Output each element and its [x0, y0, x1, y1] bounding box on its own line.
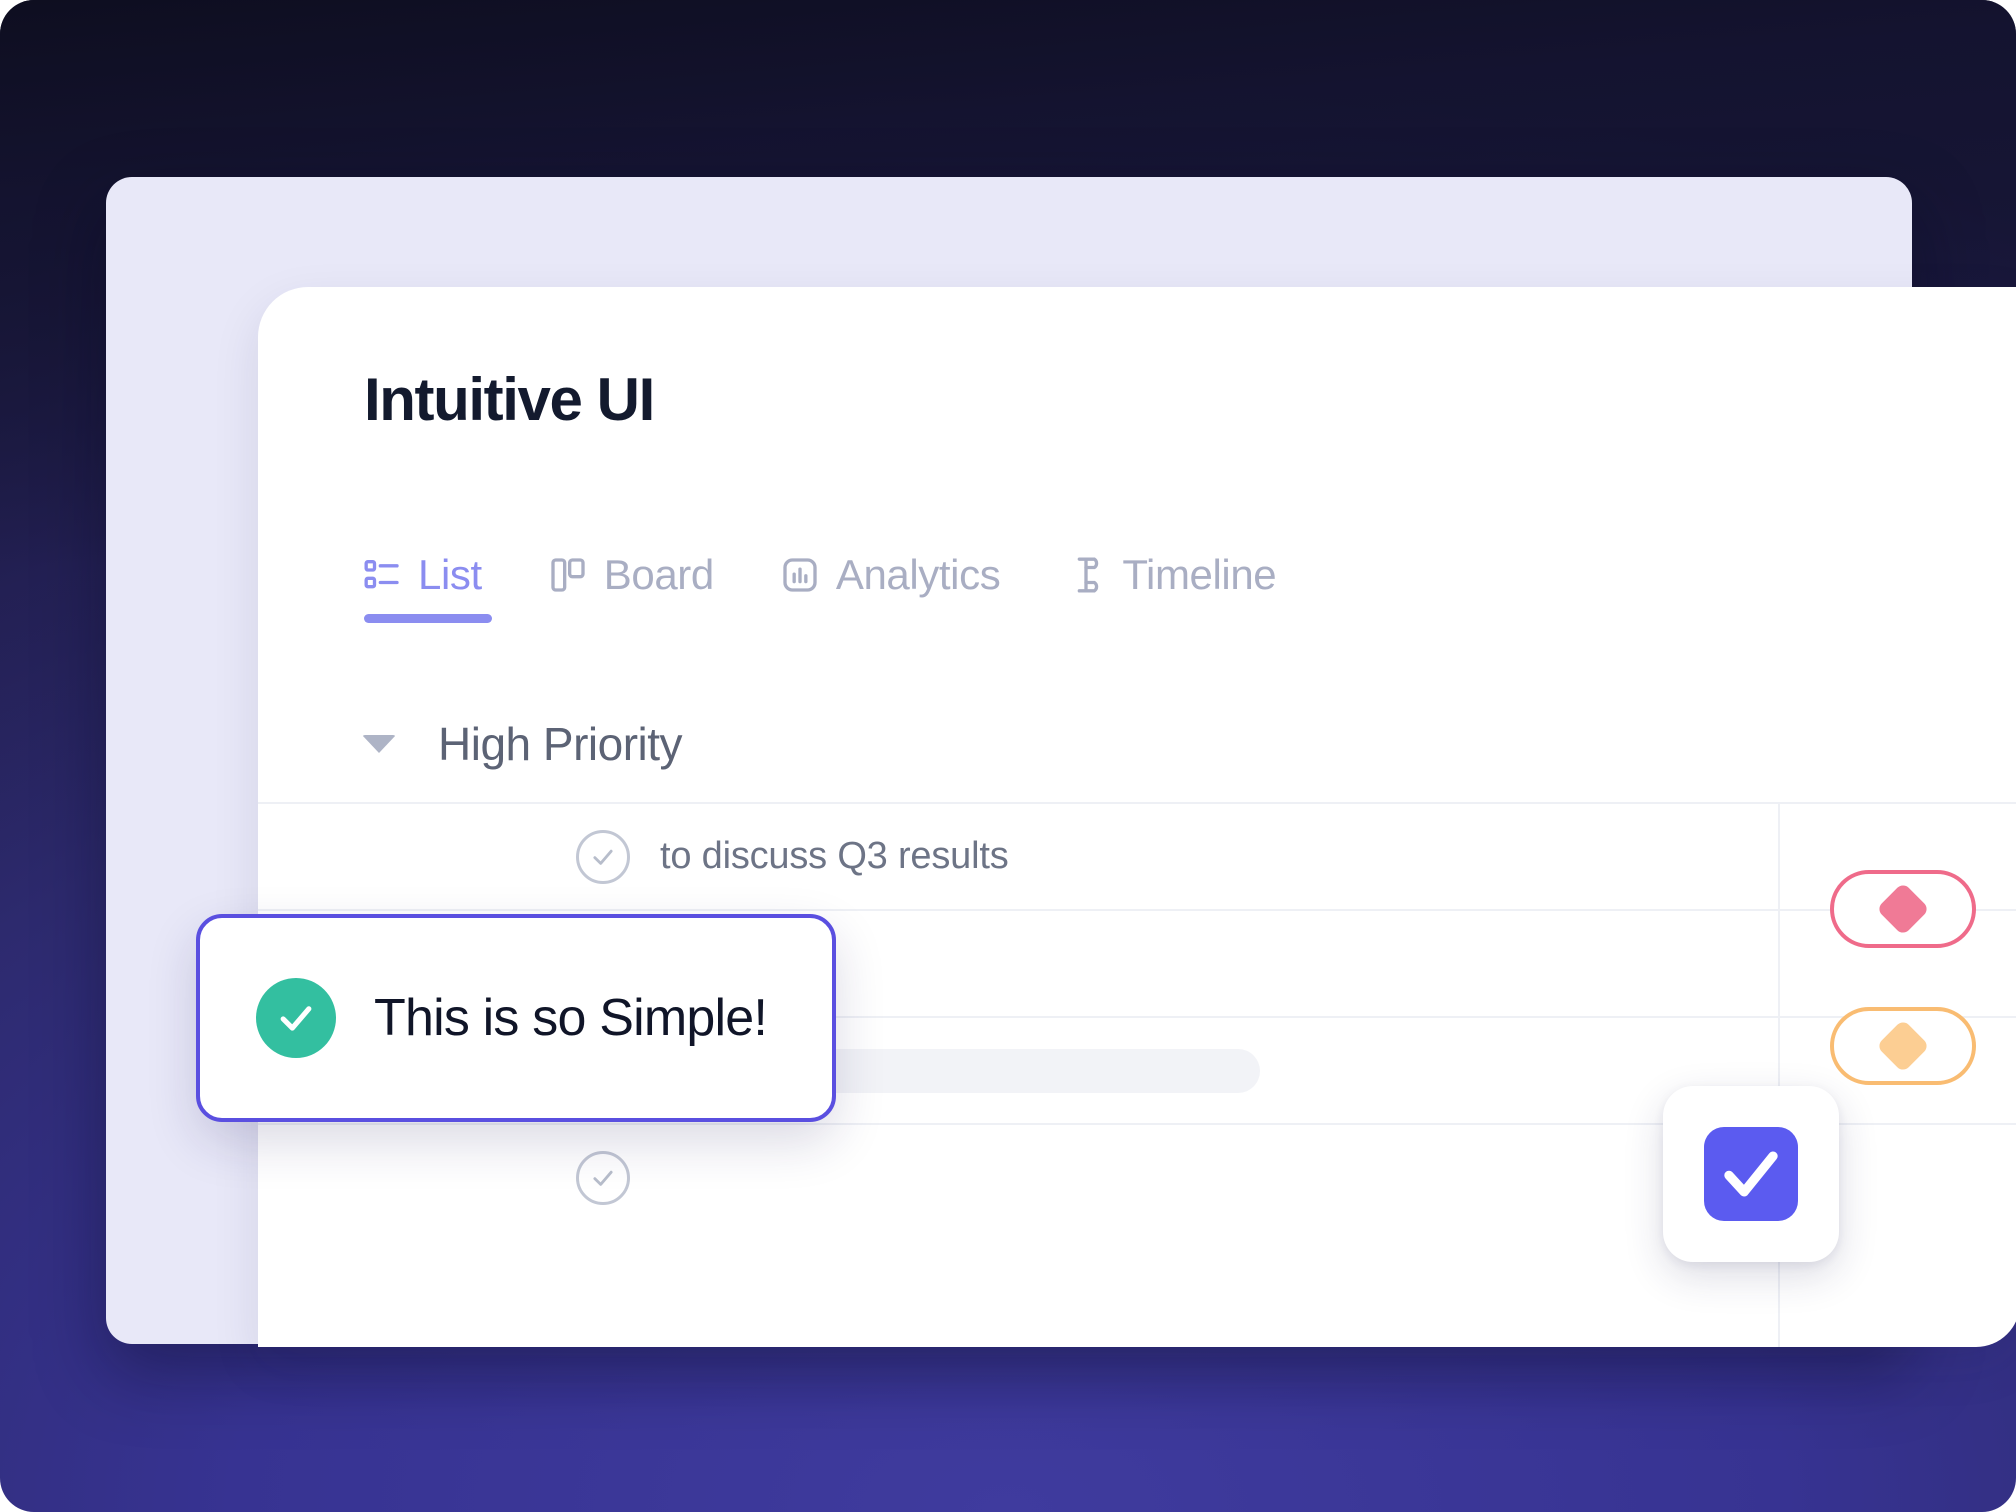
list-icon — [362, 555, 402, 595]
board-icon — [548, 555, 588, 595]
floating-check-badge[interactable] — [1663, 1086, 1839, 1262]
tab-analytics[interactable]: Analytics — [780, 551, 1000, 625]
check-circle-icon — [256, 978, 336, 1058]
background-stage: Intuitive UI List — [0, 0, 2016, 1512]
tab-active-indicator — [364, 614, 492, 623]
tab-timeline[interactable]: Timeline — [1066, 551, 1276, 625]
circle-check-icon[interactable] — [576, 1151, 630, 1205]
circle-check-icon[interactable] — [576, 830, 630, 884]
caret-down-icon[interactable] — [362, 735, 396, 753]
tab-board-label: Board — [604, 551, 714, 599]
diamond-icon — [1876, 1019, 1930, 1073]
tab-list-label: List — [418, 551, 482, 599]
bar-chart-icon — [780, 555, 820, 595]
tab-list[interactable]: List — [362, 551, 482, 625]
callout-text: This is so Simple! — [374, 988, 767, 1048]
tab-analytics-label: Analytics — [836, 551, 1000, 599]
tab-timeline-label: Timeline — [1122, 551, 1276, 599]
status-badge-urgent[interactable] — [1830, 870, 1976, 948]
page-title: Intuitive UI — [364, 365, 654, 434]
callout-tooltip: This is so Simple! — [196, 914, 836, 1122]
tab-bar: List Board — [362, 551, 1276, 625]
diamond-icon — [1876, 882, 1930, 936]
task-title: to discuss Q3 results — [660, 835, 1009, 878]
checkmark-icon — [1704, 1127, 1798, 1221]
app-shell: Intuitive UI List — [106, 177, 1912, 1344]
table-row[interactable]: to discuss Q3 results — [258, 802, 2016, 909]
section-header-high-priority[interactable]: High Priority — [362, 717, 682, 771]
status-badge-medium[interactable] — [1830, 1007, 1976, 1085]
timeline-icon — [1066, 555, 1106, 595]
tab-board[interactable]: Board — [548, 551, 714, 625]
section-title: High Priority — [438, 717, 682, 771]
